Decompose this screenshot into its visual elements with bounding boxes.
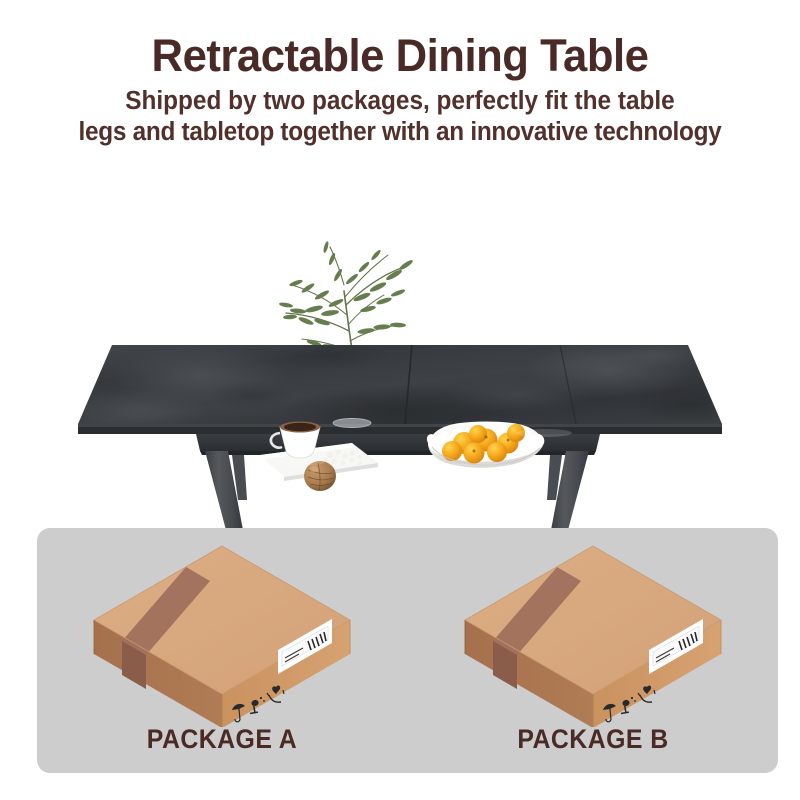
package-b: PACKAGE B	[408, 528, 778, 773]
package-b-label: PACKAGE B	[423, 724, 763, 755]
product-infographic: Retractable Dining Table Shipped by two …	[0, 0, 800, 800]
package-a-label: PACKAGE A	[52, 724, 392, 755]
tabletop	[70, 341, 750, 436]
page-title: Retractable Dining Table	[12, 33, 788, 78]
subtitle: Shipped by two packages, perfectly fit t…	[18, 86, 782, 148]
package-a-box-illustration	[85, 542, 360, 727]
table-legs	[205, 451, 589, 530]
subtitle-line-2: legs and tabletop together with an innov…	[18, 117, 782, 148]
subtitle-line-1: Shipped by two packages, perfectly fit t…	[18, 86, 782, 117]
fruit-bowl	[427, 422, 544, 468]
packages-panel: PACKAGE A	[37, 528, 778, 773]
package-a: PACKAGE A	[37, 528, 407, 773]
package-b-box-illustration	[456, 542, 731, 727]
product-photo	[0, 155, 800, 530]
header: Retractable Dining Table Shipped by two …	[0, 0, 800, 148]
